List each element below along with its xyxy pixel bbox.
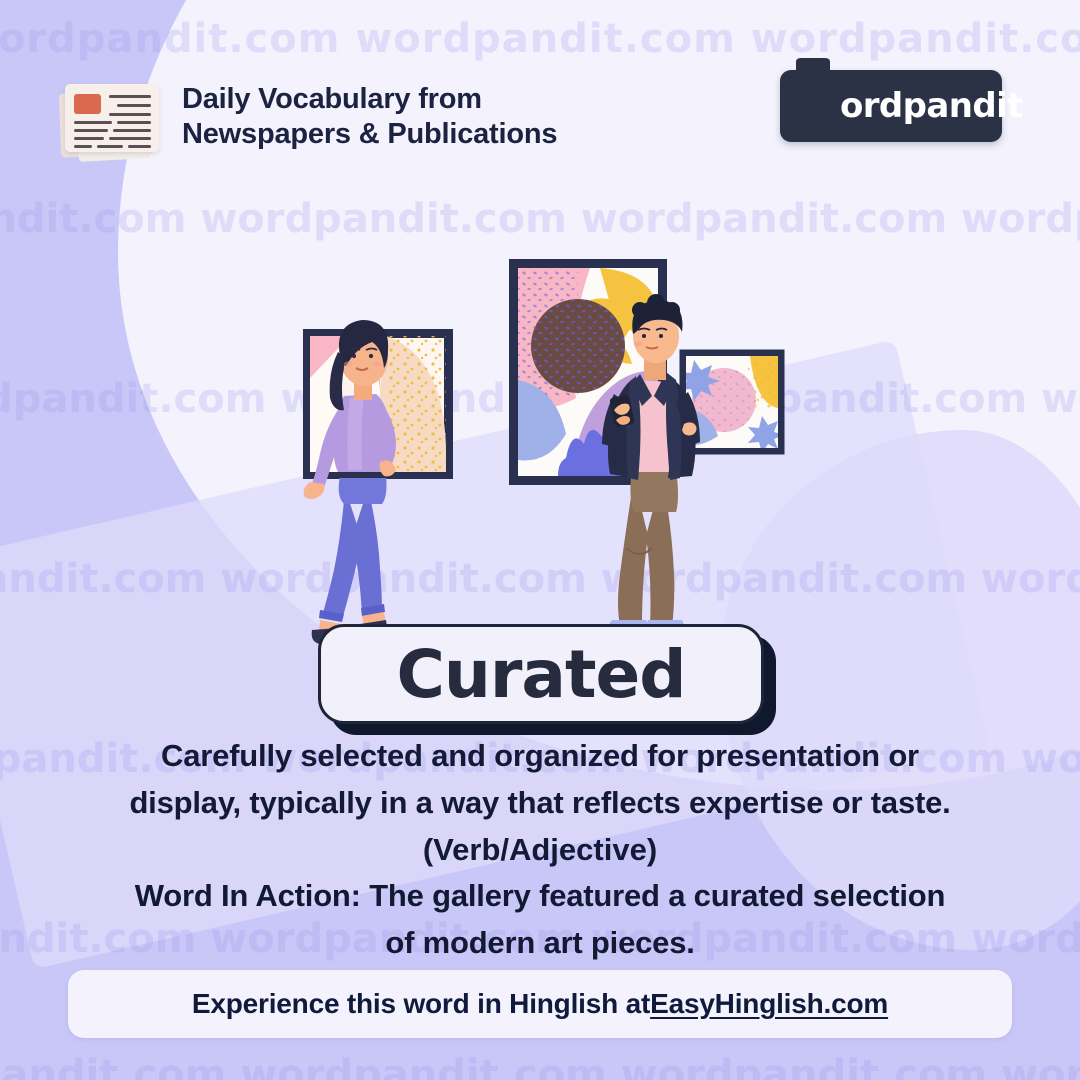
word-card-surface: Curated <box>318 624 764 724</box>
vocabulary-word: Curated <box>396 636 685 713</box>
footer-prefix: Experience this word in Hinglish at <box>192 988 650 1020</box>
header-brand-group: Daily Vocabulary from Newspapers & Publi… <box>56 70 557 165</box>
definition-line-1: Carefully selected and organized for pre… <box>30 732 1050 779</box>
wordpandit-logo[interactable]: ordpandit <box>780 70 1002 142</box>
definition-block: Carefully selected and organized for pre… <box>30 732 1050 873</box>
newspaper-icon <box>56 70 164 165</box>
poster-canvas: wordpandit.com wordpandit.com wordpandit… <box>0 0 1080 1080</box>
word-card: Curated <box>318 624 764 724</box>
bookmark-icon <box>790 58 836 130</box>
word-in-action-line-1: Word In Action: The gallery featured a c… <box>30 872 1050 919</box>
header-title: Daily Vocabulary from Newspapers & Publi… <box>182 82 557 152</box>
part-of-speech: (Verb/Adjective) <box>30 826 1050 873</box>
header-title-line1: Daily Vocabulary from <box>182 83 482 115</box>
art-gallery-illustration <box>290 248 810 648</box>
header: Daily Vocabulary from Newspapers & Publi… <box>0 62 1080 172</box>
definition-line-2: display, typically in a way that reflect… <box>30 779 1050 826</box>
word-in-action-line-2: of modern art pieces. <box>30 919 1050 966</box>
footer-bar[interactable]: Experience this word in Hinglish at Easy… <box>68 970 1012 1038</box>
word-in-action-block: Word In Action: The gallery featured a c… <box>30 872 1050 966</box>
logo-text: ordpandit <box>840 86 1023 126</box>
easyhinglish-link[interactable]: EasyHinglish.com <box>650 988 888 1020</box>
header-title-line2: Newspapers & Publications <box>182 117 557 152</box>
